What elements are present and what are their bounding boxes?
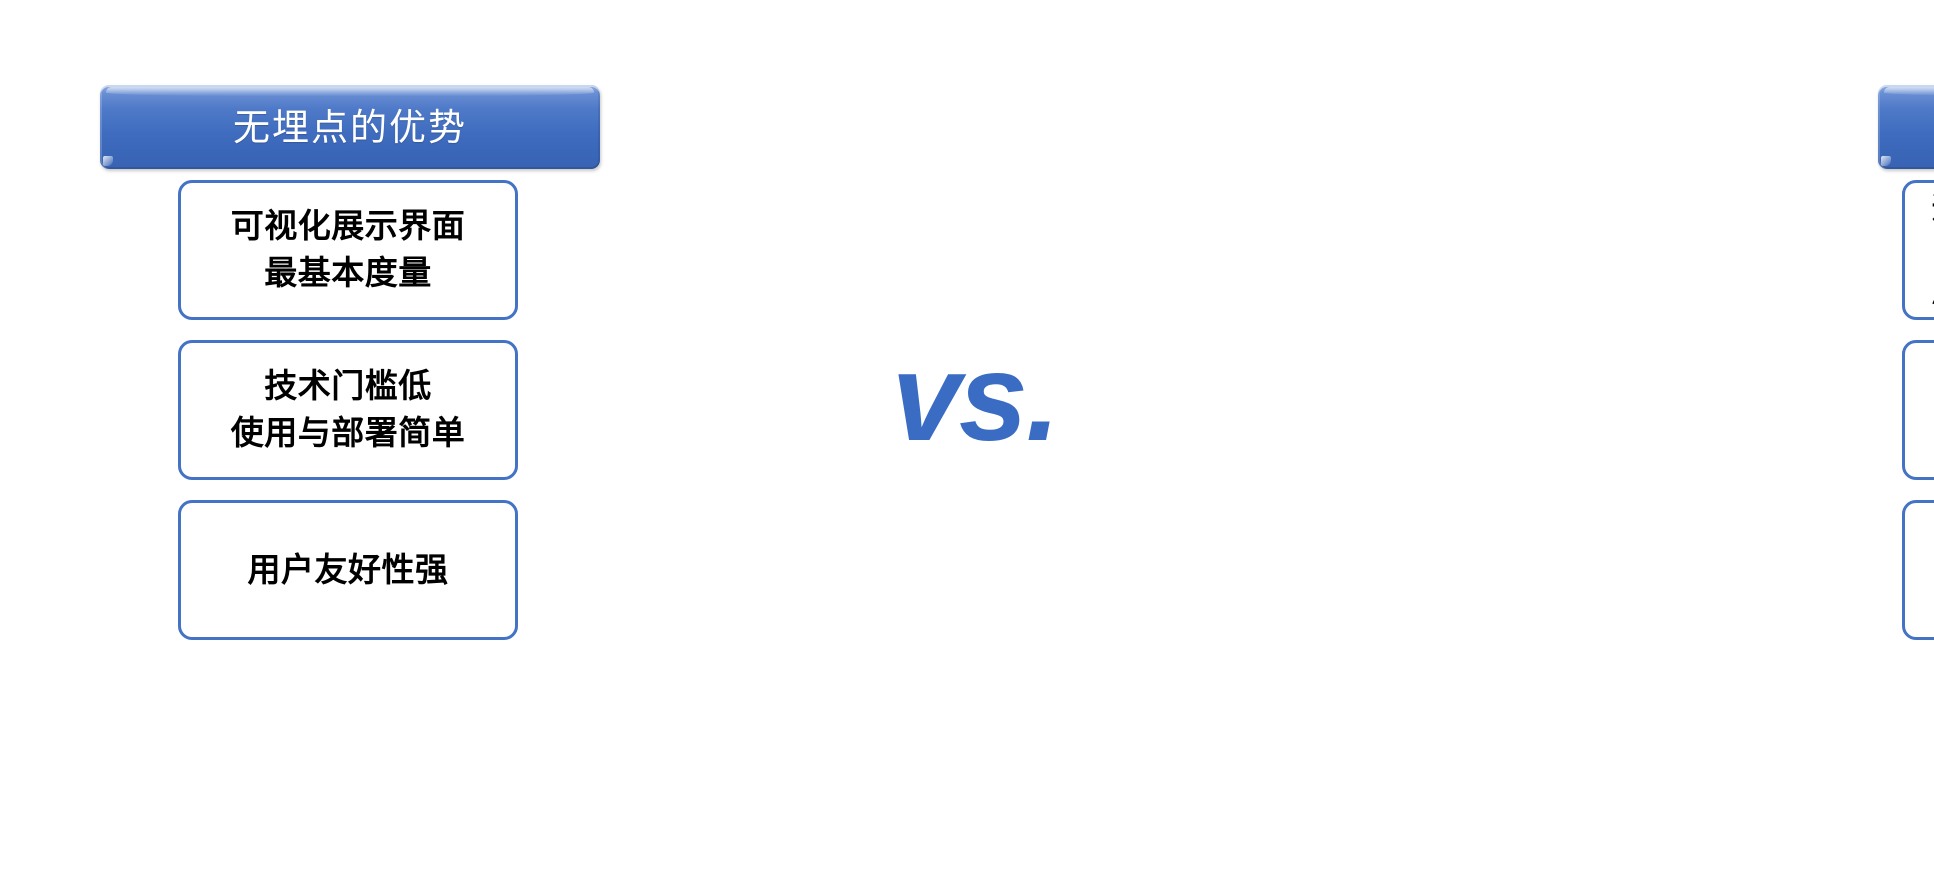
disadvantages-column: 无埋点的劣势 适合标准化数据采集，自定义 属性的采集需代码埋点辅助 无埋点兼容性… bbox=[930, 0, 1470, 889]
comparison-slide: 无埋点的优势 可视化展示界面 最基本度量 技术门槛低 使用与部署简单 用户友好性… bbox=[0, 0, 1934, 889]
disadvantage-item-3: 具有前端埋点的固有缺陷 bbox=[1902, 500, 1934, 640]
advantage-item-3: 用户友好性强 bbox=[178, 500, 518, 640]
disadvantage-item-1-text: 适合标准化数据采集，自定义 属性的采集需代码埋点辅助 bbox=[1919, 188, 1934, 313]
disadvantages-header-banner: 无埋点的劣势 bbox=[1878, 85, 1934, 169]
disadvantage-item-2: 无埋点兼容性有限 bbox=[1902, 340, 1934, 480]
advantages-header-banner: 无埋点的优势 bbox=[100, 85, 600, 169]
disadvantage-item-1: 适合标准化数据采集，自定义 属性的采集需代码埋点辅助 bbox=[1902, 180, 1934, 320]
advantage-item-2: 技术门槛低 使用与部署简单 bbox=[178, 340, 518, 480]
advantage-item-2-text: 技术门槛低 使用与部署简单 bbox=[231, 363, 466, 457]
advantage-item-1: 可视化展示界面 最基本度量 bbox=[178, 180, 518, 320]
advantage-item-3-text: 用户友好性强 bbox=[248, 547, 449, 594]
advantages-header-label: 无埋点的优势 bbox=[233, 109, 467, 146]
advantages-column: 无埋点的优势 可视化展示界面 最基本度量 技术门槛低 使用与部署简单 用户友好性… bbox=[0, 0, 760, 889]
advantage-item-1-text: 可视化展示界面 最基本度量 bbox=[231, 203, 466, 297]
